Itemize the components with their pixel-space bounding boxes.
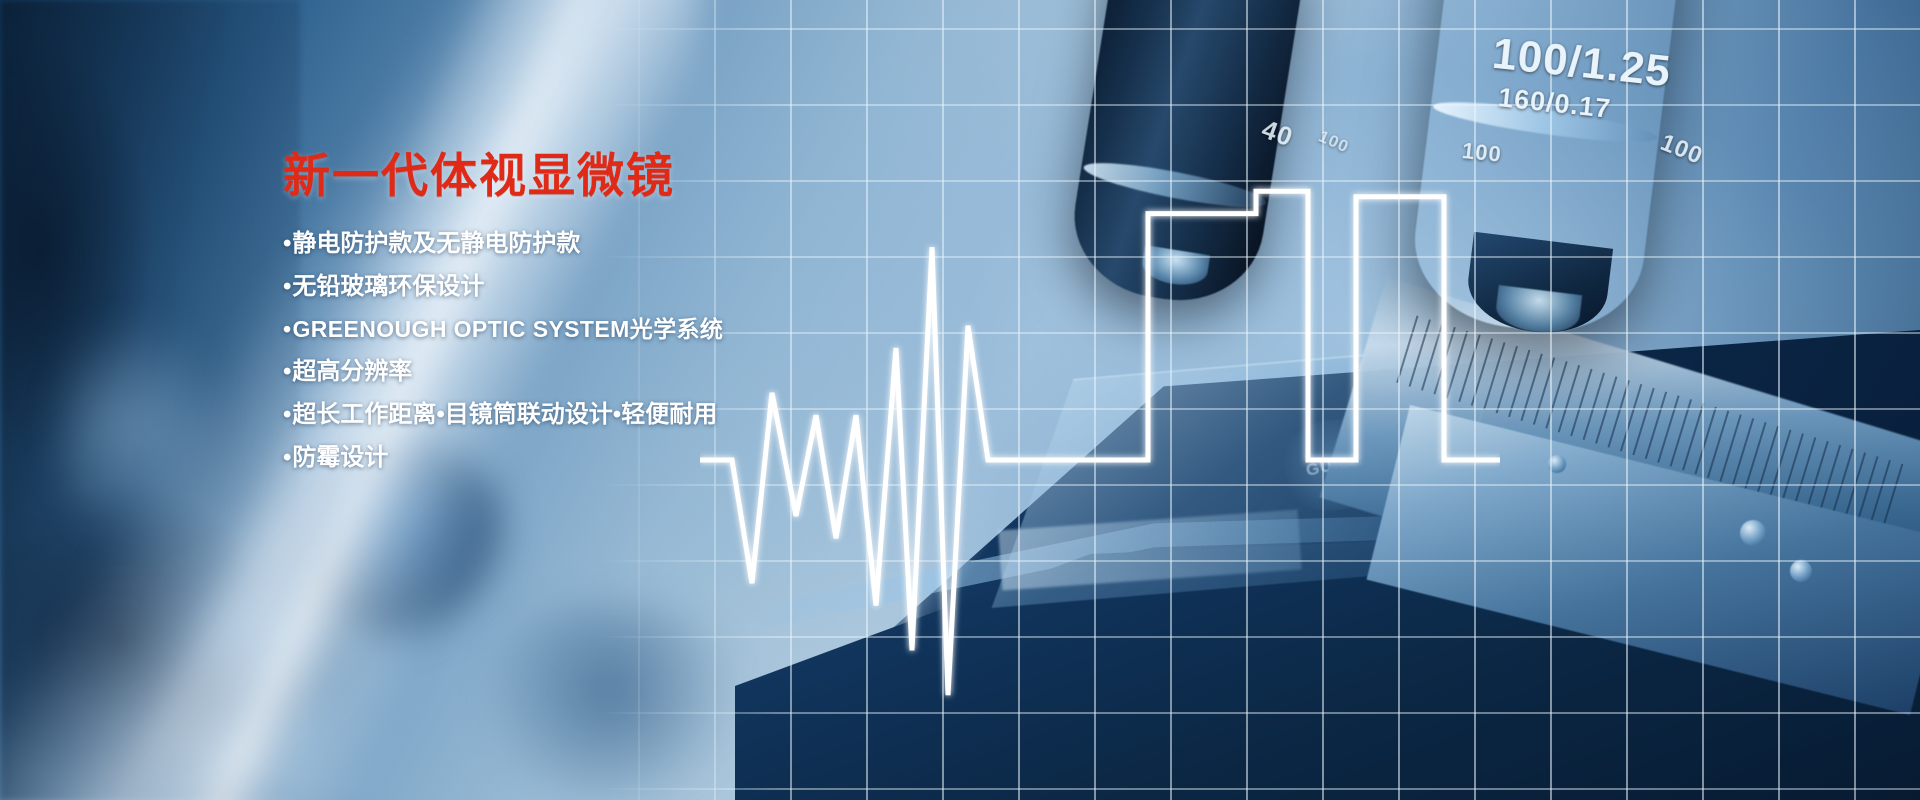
feature-item: •静电防护款及无静电防护款 [283,232,903,256]
feature-item: •防霉设计 [283,446,903,470]
bullet-dot-icon: • [283,358,291,385]
feature-item-label: 超长工作距离•目镜筒联动设计•轻便耐用 [292,401,717,428]
feature-item-label: 静电防护款及无静电防护款 [292,230,580,257]
objective-label-scale-left: 100 [1461,138,1503,168]
bullet-dot-icon: • [283,401,291,428]
feature-item-label: GREENOUGH OPTIC SYSTEM光学系统 [292,316,723,342]
feature-item: •无铅玻璃环保设计 [283,275,903,299]
feature-item-label: 无铅玻璃环保设计 [292,273,484,300]
bullet-dot-icon: • [283,273,291,300]
stage-screw [1790,560,1812,582]
stage-screw [1740,520,1766,546]
feature-list: •静电防护款及无静电防护款•无铅玻璃环保设计•GREENOUGH OPTIC S… [283,232,903,470]
bullet-dot-icon: • [283,316,291,342]
feature-item: •超长工作距离•目镜筒联动设计•轻便耐用 [283,403,903,427]
feature-item-label: 防霉设计 [292,444,388,471]
feature-item: •GREENOUGH OPTIC SYSTEM光学系统 [283,318,903,341]
page-title: 新一代体视显微镜 [283,150,903,202]
feature-item-label: 超高分辨率 [292,358,412,385]
feature-item: •超高分辨率 [283,360,903,384]
copy-block: 新一代体视显微镜 •静电防护款及无静电防护款•无铅玻璃环保设计•GREENOUG… [283,150,903,489]
hero-banner: GUIDE 100/1.25 160/0.17 100 100 40 100 新… [0,0,1920,800]
bullet-dot-icon: • [283,230,291,257]
bullet-dot-icon: • [283,444,291,471]
stage-screw [1548,455,1566,473]
